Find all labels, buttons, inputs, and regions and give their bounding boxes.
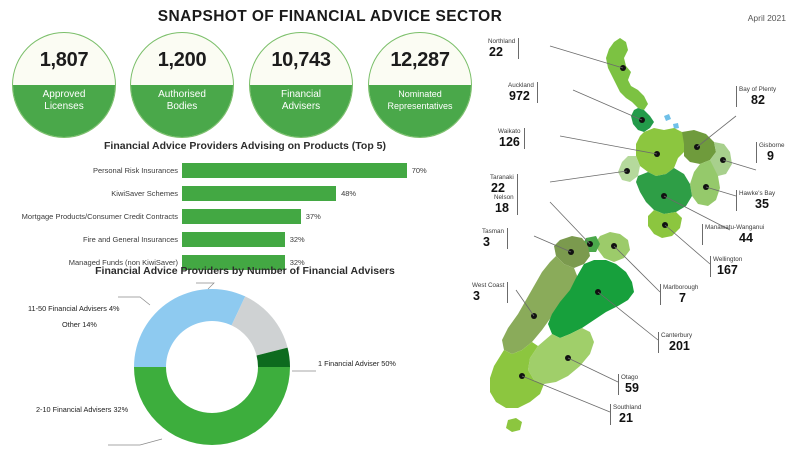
map-label-hawkes-bay: Hawke's Bay 35 bbox=[736, 190, 775, 211]
infographic-root: SNAPSHOT OF FINANCIAL ADVICE SECTOR Apri… bbox=[0, 0, 800, 466]
map-region-waikato bbox=[636, 128, 686, 176]
kpi-row: 1,807 Approved Licenses 1,200 Authorised… bbox=[8, 32, 488, 140]
map-region-hauraki-islands bbox=[664, 114, 679, 129]
map-label-canterbury: Canterbury 201 bbox=[658, 332, 692, 353]
date-stamp: April 2021 bbox=[748, 13, 786, 23]
bar-value-label: 37% bbox=[306, 212, 321, 221]
map-label-southland: Southland 21 bbox=[610, 404, 641, 425]
donut-leader-line bbox=[108, 439, 162, 445]
kpi-label: Authorised Bodies bbox=[131, 89, 233, 113]
map-label-manawatu-wanganui: Manawatu-Wanganui 44 bbox=[702, 224, 764, 245]
donut-leader-line bbox=[118, 297, 150, 305]
kpi-card-approved-licenses: 1,807 Approved Licenses bbox=[12, 32, 116, 138]
map-label-nelson: Nelson 18 bbox=[492, 194, 518, 215]
bar-chart: Financial Advice Providers Advising on P… bbox=[0, 140, 490, 262]
map-region-stewart-island bbox=[506, 418, 522, 432]
donut-label-other: Other 14% bbox=[62, 320, 97, 329]
bar-value-label: 70% bbox=[412, 166, 427, 175]
donut-label-1-adviser: 1 Financial Adviser 50% bbox=[318, 359, 396, 368]
bar-category-label: Mortgage Products/Consumer Credit Contra… bbox=[0, 212, 178, 221]
bar-value-label: 48% bbox=[341, 189, 356, 198]
map-label-bay-of-plenty: Bay of Plenty 82 bbox=[736, 86, 776, 107]
donut-chart: Financial Advice Providers by Number of … bbox=[0, 265, 490, 465]
kpi-value: 1,200 bbox=[131, 49, 233, 72]
kpi-card-financial-advisers: 10,743 Financial Advisers bbox=[249, 32, 353, 138]
donut-chart-canvas: 1 Financial Adviser 50% 2-10 Financial A… bbox=[0, 279, 490, 459]
bar-fill bbox=[182, 163, 407, 178]
kpi-card-authorised-bodies: 1,200 Authorised Bodies bbox=[130, 32, 234, 138]
map-label-marlborough: Marlborough 7 bbox=[660, 284, 698, 305]
bar-chart-title: Financial Advice Providers Advising on P… bbox=[0, 140, 490, 152]
bar-track bbox=[182, 232, 482, 247]
map-label-northland: Northland 22 bbox=[486, 38, 519, 59]
kpi-label: Approved Licenses bbox=[13, 89, 115, 113]
map-label-otago: Otago 59 bbox=[618, 374, 639, 395]
map-label-tasman: Tasman 3 bbox=[480, 228, 508, 249]
donut-leader-line bbox=[196, 283, 214, 289]
donut-label-2-10: 2-10 Financial Advisers 32% bbox=[36, 405, 128, 414]
bar-value-label: 32% bbox=[290, 235, 305, 244]
donut-slice-2-10 bbox=[134, 289, 245, 367]
bar-fill bbox=[182, 209, 301, 224]
bar-track bbox=[182, 163, 482, 178]
map-label-gisborne: Gisborne 9 bbox=[756, 142, 785, 163]
map-label-waikato: Waikato 126 bbox=[496, 128, 525, 149]
map-region-northland bbox=[606, 38, 648, 110]
map-label-auckland: Auckland 972 bbox=[506, 82, 538, 103]
map-label-west-coast: West Coast 3 bbox=[470, 282, 508, 303]
map-region-manawatu-wanganui bbox=[636, 168, 692, 214]
donut-chart-title: Financial Advice Providers by Number of … bbox=[0, 265, 490, 277]
kpi-card-nominated-representatives: 12,287 Nominated Representatives bbox=[368, 32, 472, 138]
map-label-wellington: Wellington 167 bbox=[710, 256, 742, 277]
donut-label-11-50: 11-50 Financial Advisers 4% bbox=[28, 304, 120, 313]
bar-row: KiwiSaver Schemes48% bbox=[0, 185, 490, 204]
bar-category-label: Fire and General Insurances bbox=[0, 235, 178, 244]
bar-fill bbox=[182, 186, 336, 201]
new-zealand-map: Northland 22 Auckland 972 Waikato 126 Ta… bbox=[468, 24, 800, 466]
map-label-taranaki: Taranaki 22 bbox=[488, 174, 518, 195]
kpi-label: Nominated Representatives bbox=[369, 88, 471, 112]
kpi-value: 10,743 bbox=[250, 49, 352, 72]
bar-fill bbox=[182, 232, 285, 247]
bar-row: Mortgage Products/Consumer Credit Contra… bbox=[0, 208, 490, 227]
bar-track bbox=[182, 209, 482, 224]
kpi-label: Financial Advisers bbox=[250, 89, 352, 113]
bar-category-label: Personal Risk Insurances bbox=[0, 166, 178, 175]
bar-category-label: KiwiSaver Schemes bbox=[0, 189, 178, 198]
map-city-dots bbox=[519, 65, 726, 379]
bar-chart-rows: Personal Risk Insurances70%KiwiSaver Sch… bbox=[0, 162, 490, 277]
bar-track bbox=[182, 186, 482, 201]
bar-row: Personal Risk Insurances70% bbox=[0, 162, 490, 181]
kpi-value: 1,807 bbox=[13, 49, 115, 72]
kpi-value: 12,287 bbox=[369, 49, 471, 72]
bar-row: Fire and General Insurances32% bbox=[0, 231, 490, 250]
donut-slice-1-adviser bbox=[134, 367, 290, 445]
